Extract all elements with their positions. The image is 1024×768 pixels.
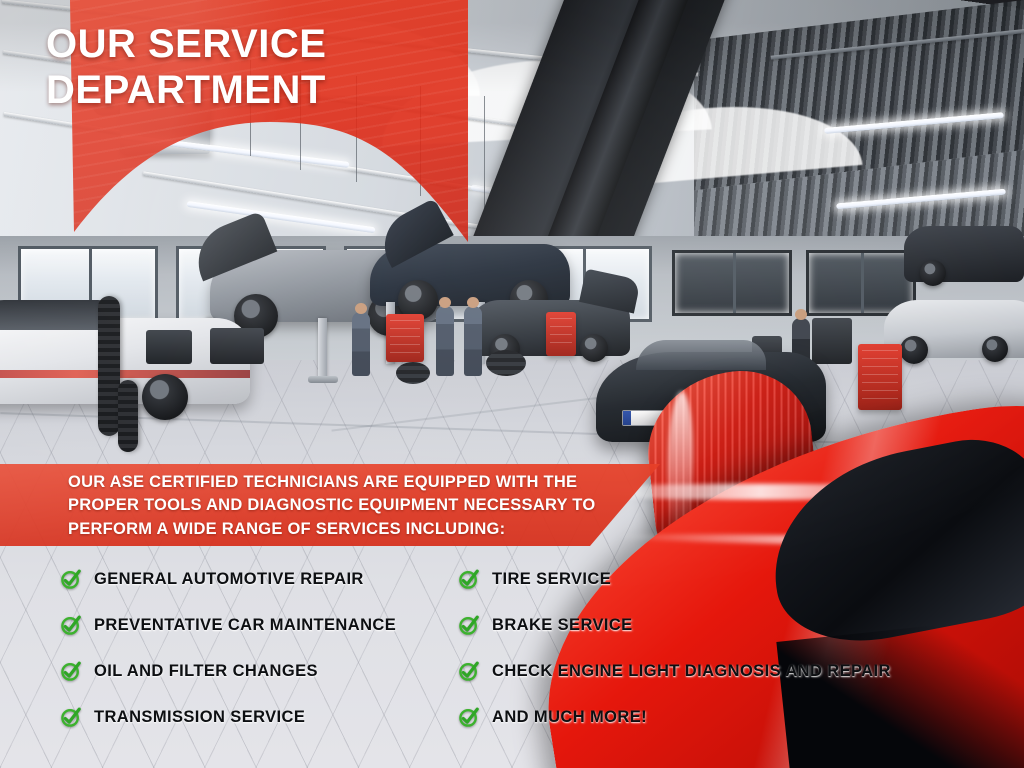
service-label: OIL AND FILTER CHANGES xyxy=(94,662,318,681)
green-check-icon xyxy=(60,660,82,682)
service-item: GENERAL AUTOMOTIVE REPAIR xyxy=(60,556,480,602)
mechanic-1 xyxy=(352,312,370,376)
green-check-icon xyxy=(458,660,480,682)
tire-stack-2 xyxy=(396,362,430,384)
service-item: AND MUCH MORE! xyxy=(458,694,1018,740)
silver-car-wheel-front xyxy=(982,336,1008,362)
white-car-wheel xyxy=(142,374,188,420)
intro-line-1: OUR ASE CERTIFIED TECHNICIANS ARE EQUIPP… xyxy=(68,471,608,494)
green-check-icon xyxy=(60,706,82,728)
services-right-column: TIRE SERVICE BRAKE SERVICE CHECK ENGINE … xyxy=(458,556,1018,740)
service-department-poster: OUR SERVICE DEPARTMENT OUR ASE CERTIFIED… xyxy=(0,0,1024,768)
green-check-icon xyxy=(60,614,82,636)
page-title: OUR SERVICE DEPARTMENT xyxy=(46,22,376,113)
exhaust-extraction-hose-return xyxy=(118,380,138,452)
exhaust-extraction-hose xyxy=(98,296,120,436)
equipment-box-2 xyxy=(146,330,192,364)
service-label: BRAKE SERVICE xyxy=(492,616,633,635)
intro-line-2: PROPER TOOLS AND DIAGNOSTIC EQUIPMENT NE… xyxy=(68,494,608,517)
window-5 xyxy=(672,250,792,316)
service-label: GENERAL AUTOMOTIVE REPAIR xyxy=(94,570,364,589)
page-title-line-1: OUR SERVICE xyxy=(46,22,376,68)
service-item: TRANSMISSION SERVICE xyxy=(60,694,480,740)
service-label: CHECK ENGINE LIGHT DIAGNOSIS AND REPAIR xyxy=(492,662,891,681)
green-check-icon xyxy=(458,568,480,590)
equipment-box-3 xyxy=(812,318,852,364)
service-label: AND MUCH MORE! xyxy=(492,708,647,727)
services-left-column: GENERAL AUTOMOTIVE REPAIR PREVENTATIVE C… xyxy=(60,556,480,740)
lift-base-2 xyxy=(308,376,338,383)
service-item: PREVENTATIVE CAR MAINTENANCE xyxy=(60,602,480,648)
tire-stack-1 xyxy=(486,350,526,376)
white-car-tail-stripe xyxy=(0,370,250,378)
mechanic-2 xyxy=(436,306,454,376)
service-label: PREVENTATIVE CAR MAINTENANCE xyxy=(94,616,396,635)
black-car-windshield xyxy=(636,340,766,370)
mechanic-3 xyxy=(464,306,482,376)
green-check-icon xyxy=(60,568,82,590)
red-tool-cabinet-1 xyxy=(386,314,424,362)
service-label: TIRE SERVICE xyxy=(492,570,611,589)
equipment-box-1 xyxy=(210,328,264,364)
red-tool-cabinet-2 xyxy=(546,312,576,356)
lift-post-2 xyxy=(318,318,327,380)
hanger-wire-5 xyxy=(484,96,485,208)
service-label: TRANSMISSION SERVICE xyxy=(94,708,305,727)
dark-car-wheel xyxy=(920,260,946,286)
silver-car-right xyxy=(884,300,1024,358)
service-item: OIL AND FILTER CHANGES xyxy=(60,648,480,694)
service-item: CHECK ENGINE LIGHT DIAGNOSIS AND REPAIR xyxy=(458,648,1018,694)
wagon-wheel-front xyxy=(580,334,608,362)
green-check-icon xyxy=(458,706,480,728)
services-checklist: GENERAL AUTOMOTIVE REPAIR PREVENTATIVE C… xyxy=(0,556,1024,736)
service-item: TIRE SERVICE xyxy=(458,556,1018,602)
green-check-icon xyxy=(458,614,480,636)
intro-line-3: PERFORM A WIDE RANGE OF SERVICES INCLUDI… xyxy=(68,518,608,541)
intro-paragraph: OUR ASE CERTIFIED TECHNICIANS ARE EQUIPP… xyxy=(68,471,608,541)
silver-car-wheel-rear xyxy=(900,336,928,364)
dark-car-top-right xyxy=(904,226,1024,282)
page-title-line-2: DEPARTMENT xyxy=(46,68,376,114)
red-tool-cabinet-3 xyxy=(858,344,902,410)
service-item: BRAKE SERVICE xyxy=(458,602,1018,648)
